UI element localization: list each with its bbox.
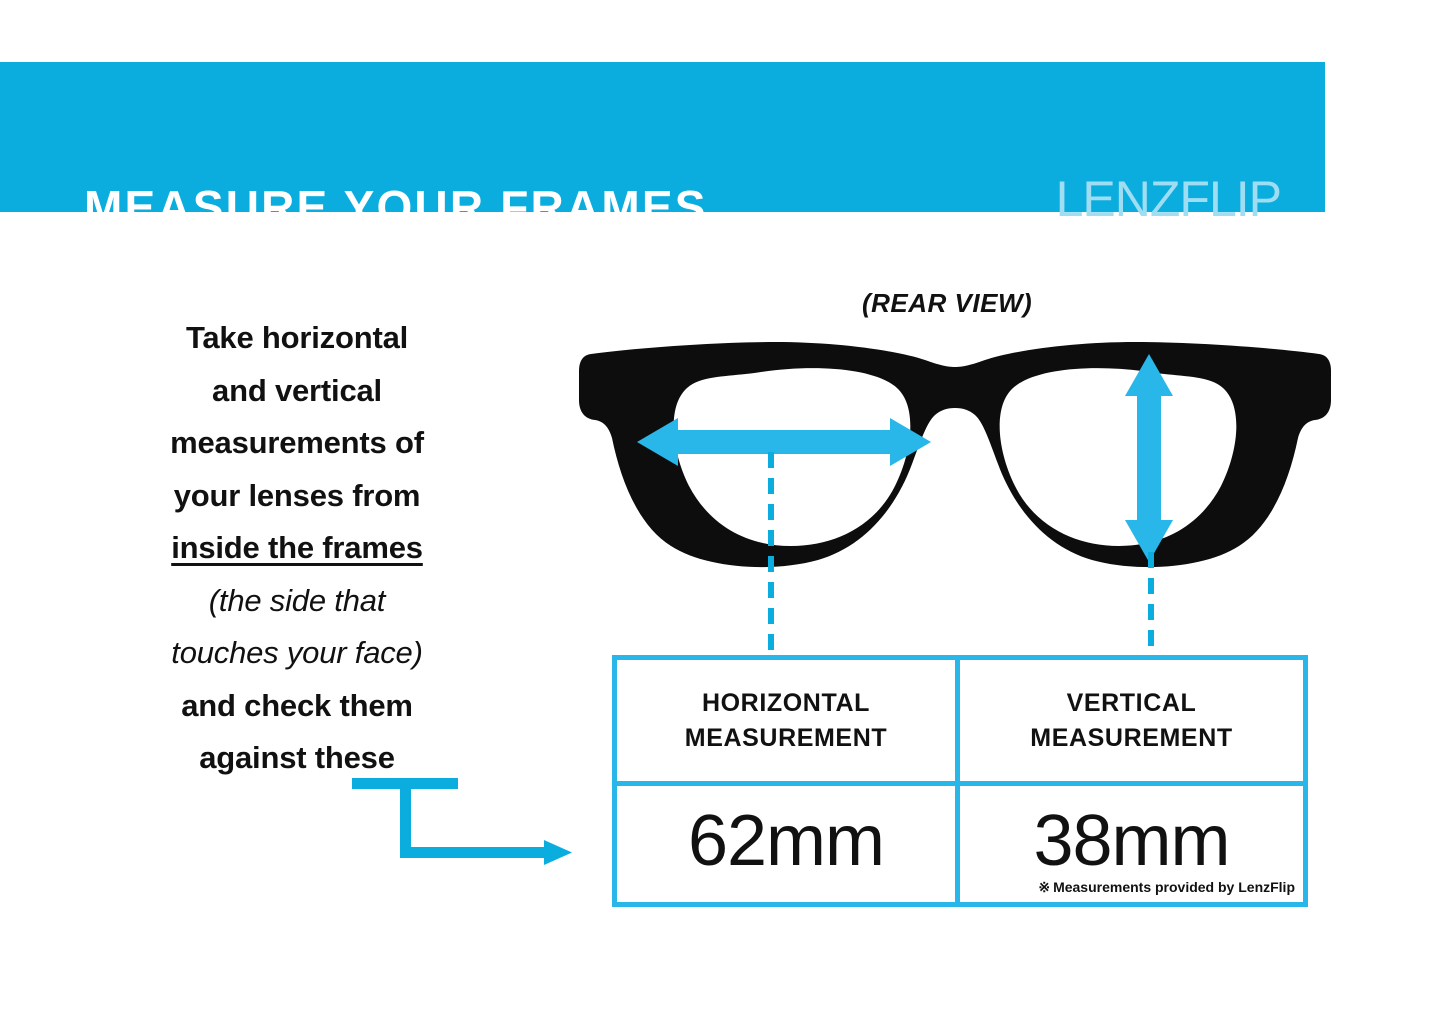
horizontal-measurement-value-cell: 62mm — [617, 786, 960, 902]
instruction-line-8: and check them — [118, 680, 476, 733]
measurement-table: HORIZONTAL MEASUREMENT VERTICAL MEASUREM… — [612, 655, 1308, 907]
frame-silhouette — [579, 342, 1331, 567]
instruction-line-4: your lenses from — [118, 470, 476, 523]
lenzflip-logo: LENZFLIP — [1056, 174, 1281, 224]
instruction-line-7: touches your face) — [118, 627, 476, 680]
horizontal-measurement-header: HORIZONTAL MEASUREMENT — [685, 686, 887, 756]
eyeglasses-frame-illustration — [575, 330, 1335, 580]
table-header-row: HORIZONTAL MEASUREMENT VERTICAL MEASUREM… — [617, 660, 1303, 786]
instruction-line-6: (the side that — [118, 575, 476, 628]
instruction-line-2: and vertical — [118, 365, 476, 418]
rear-view-label: (REAR VIEW) — [862, 288, 1032, 319]
instruction-line-5-emphasis: inside the frames — [118, 522, 476, 575]
table-value-row: 62mm 38mm ※Measurements provided by Lenz… — [617, 786, 1303, 902]
instruction-line-9: against these — [118, 732, 476, 785]
vertical-measurement-value: 38mm — [1033, 805, 1229, 877]
vertical-measurement-value-cell: 38mm ※Measurements provided by LenzFlip — [960, 786, 1303, 902]
vertical-guide-dashed-line — [1148, 552, 1154, 652]
infographic-page: MEASURE YOUR FRAMES LENZFLIP Take horizo… — [0, 0, 1445, 1022]
horizontal-measurement-arrow — [637, 418, 931, 466]
measurements-footnote: ※Measurements provided by LenzFlip — [1038, 879, 1295, 896]
instructions-block: Take horizontal and vertical measurement… — [118, 312, 476, 785]
vertical-measurement-header-cell: VERTICAL MEASUREMENT — [960, 660, 1303, 781]
reference-mark-icon: ※ — [1038, 879, 1050, 895]
vertical-header-line1: VERTICAL — [1067, 689, 1197, 717]
horizontal-guide-dashed-line — [768, 452, 774, 652]
horizontal-measurement-header-cell: HORIZONTAL MEASUREMENT — [617, 660, 960, 781]
footnote-text: Measurements provided by LenzFlip — [1053, 879, 1295, 895]
vertical-header-line2: MEASUREMENT — [1030, 724, 1232, 752]
horizontal-header-line1: HORIZONTAL — [702, 689, 870, 717]
vertical-measurement-arrow — [1125, 354, 1173, 562]
instruction-line-1: Take horizontal — [118, 312, 476, 365]
instruction-line-3: measurements of — [118, 417, 476, 470]
page-title: MEASURE YOUR FRAMES — [84, 184, 708, 230]
instructions-to-table-arrow — [352, 778, 572, 873]
vertical-measurement-header: VERTICAL MEASUREMENT — [1030, 686, 1232, 756]
header-bar: MEASURE YOUR FRAMES LENZFLIP — [0, 62, 1325, 212]
horizontal-header-line2: MEASUREMENT — [685, 724, 887, 752]
horizontal-measurement-value: 62mm — [688, 805, 884, 877]
